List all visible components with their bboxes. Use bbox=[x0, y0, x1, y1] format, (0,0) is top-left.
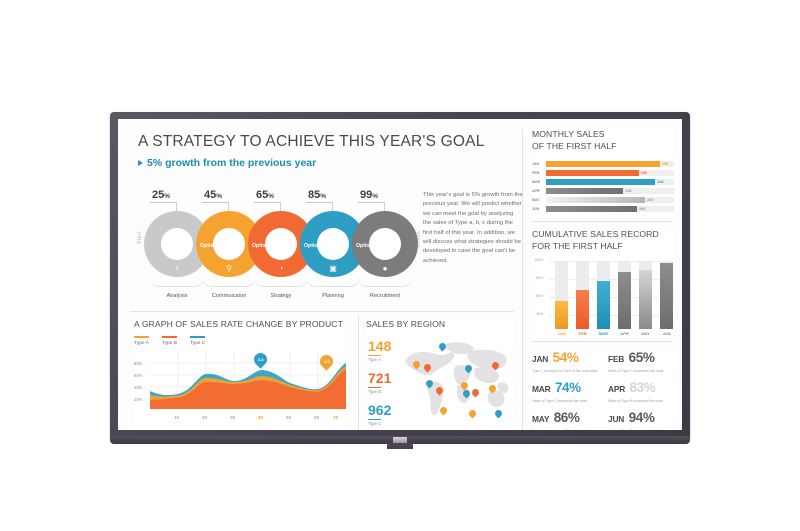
stat-desc-mar: Sales of Type C increased the most bbox=[532, 399, 598, 404]
step-pct-2: 45% bbox=[204, 189, 222, 201]
cum-fill-jun[interactable] bbox=[660, 263, 673, 329]
monthly-bars: JAN 356 FEB 290 MAR bbox=[532, 161, 674, 212]
cum-xtick-may: MAY bbox=[639, 331, 652, 336]
subtitle-row: 5% growth from the previous year bbox=[138, 157, 316, 169]
region-underline-type-a bbox=[368, 355, 381, 357]
stat-month-jun: JUN bbox=[608, 414, 624, 424]
monthly-value-may: 310 bbox=[647, 198, 653, 202]
legend-label-type-c: Type C bbox=[190, 341, 205, 346]
cum-ytick-60: 60% bbox=[536, 294, 543, 298]
step-pct-5: 99% bbox=[360, 189, 378, 201]
region-label-type-c: Type C bbox=[368, 421, 391, 426]
monthly-value-jun: 284 bbox=[639, 207, 645, 211]
step-label-5: Recruitment bbox=[358, 293, 412, 299]
legend-swatch-type-c bbox=[190, 336, 205, 338]
flask-icon: ⚲ bbox=[223, 264, 235, 273]
page-title: A STRATEGY TO ACHIEVE THIS YEAR'S GOAL bbox=[138, 133, 485, 151]
monthly-fill-feb bbox=[546, 170, 639, 176]
monthly-track-feb: 290 bbox=[546, 170, 674, 176]
stat-month-feb: FEB bbox=[608, 354, 624, 364]
region-label-type-b: Type B bbox=[368, 389, 391, 394]
stat-pct-feb: 65% bbox=[629, 350, 655, 365]
monthly-track-mar: 342 bbox=[546, 179, 674, 185]
region-panel: SALES BY REGION 148 Type A 721 Type B 96… bbox=[366, 319, 514, 430]
cum-xtick-mar: MAR bbox=[597, 331, 610, 336]
cum-xtick-jan: JAN bbox=[555, 331, 568, 336]
region-underline-type-c bbox=[368, 419, 381, 421]
region-stat-type-c: 962 Type C bbox=[368, 403, 391, 426]
cumulative-title-line1: CUMULATIVE SALES RECORD bbox=[532, 229, 674, 239]
stat-pct-may: 86% bbox=[554, 410, 580, 425]
region-value-type-b: 721 bbox=[368, 371, 391, 385]
monthly-value-mar: 342 bbox=[657, 180, 663, 184]
monthly-label-jan: JAN bbox=[532, 162, 546, 166]
cum-fill-feb[interactable] bbox=[576, 290, 589, 329]
monthly-title-line2: OF THE FIRST HALF bbox=[532, 141, 674, 151]
legend-item-type-c[interactable]: Type C bbox=[190, 336, 205, 346]
step-arc-2 bbox=[202, 277, 256, 287]
stat-pct-jun: 94% bbox=[629, 410, 655, 425]
monthly-row-apr: APR 242 bbox=[532, 188, 674, 194]
trophy-icon: ♀ bbox=[171, 264, 183, 273]
monitor-stand bbox=[387, 443, 413, 449]
monthly-label-apr: APR bbox=[532, 189, 546, 193]
triangle-bullet-icon bbox=[138, 160, 143, 166]
pct-rule-3 bbox=[254, 202, 280, 203]
monthly-label-jun: JUN bbox=[532, 207, 546, 211]
pct-rule-5 bbox=[358, 202, 384, 203]
legend-swatch-type-a bbox=[134, 336, 149, 338]
edge-label-start: Start bbox=[137, 231, 143, 244]
step-option-2: Option 02 bbox=[252, 243, 276, 249]
world-map bbox=[396, 337, 512, 425]
step-pct-3: 65% bbox=[256, 189, 274, 201]
region-underline-type-b bbox=[368, 387, 381, 389]
stat-month-mar: MAR bbox=[532, 384, 550, 394]
cum-ytick-100: 100% bbox=[534, 258, 543, 262]
monthly-row-may: MAY 310 bbox=[532, 197, 674, 203]
region-value-type-a: 148 bbox=[368, 339, 391, 353]
area-chart-title: A GRAPH OF SALES RATE CHANGE BY PRODUCT bbox=[134, 319, 348, 329]
cum-fill-jan[interactable] bbox=[555, 301, 568, 329]
cumulative-title-line2: FOR THE FIRST HALF bbox=[532, 241, 674, 251]
stat-may: MAY 86% Type B accounts for 86% of the t… bbox=[532, 409, 598, 430]
stat-mar: MAR 74% Sales of Type C increased the mo… bbox=[532, 379, 598, 404]
area-ytick-60: 60% bbox=[134, 373, 142, 378]
area-chart-svg bbox=[150, 351, 346, 413]
legend-swatch-type-b bbox=[162, 336, 177, 338]
monthly-fill-mar bbox=[546, 179, 655, 185]
monthly-label-mar: MAR bbox=[532, 180, 546, 184]
step-pct-value-3: 65 bbox=[256, 189, 268, 201]
step-arc-3 bbox=[254, 277, 308, 287]
monthly-track-jan: 356 bbox=[546, 161, 674, 167]
area-xtick-70: 70 bbox=[333, 415, 338, 420]
stat-desc-jan: Type C accounts for 54% of the total sal… bbox=[532, 369, 598, 374]
monthly-row-jun: JUN 284 bbox=[532, 206, 674, 212]
cum-ytick-80: 80% bbox=[536, 276, 543, 280]
area-xtick-10: 10 bbox=[174, 415, 179, 420]
monthly-value-feb: 290 bbox=[641, 171, 647, 175]
step-pct-value-1: 25 bbox=[152, 189, 164, 201]
monthly-row-feb: FEB 290 bbox=[532, 170, 674, 176]
step-pct-1: 25% bbox=[152, 189, 170, 201]
stat-pct-mar: 74% bbox=[555, 380, 581, 395]
monthly-fill-jan bbox=[546, 161, 660, 167]
legend-item-type-a[interactable]: Type A bbox=[134, 336, 149, 346]
area-ytick-20: 20% bbox=[134, 397, 142, 402]
monthly-track-may: 310 bbox=[546, 197, 674, 203]
stat-month-apr: APR bbox=[608, 384, 625, 394]
pct-rule-1 bbox=[150, 202, 176, 203]
stat-feb: FEB 65% Sales of Type C increased the mo… bbox=[608, 349, 674, 374]
monthly-row-jan: JAN 356 bbox=[532, 161, 674, 167]
donut-hole-1 bbox=[161, 228, 193, 260]
stat-desc-jun: Sales of Type B increased the most bbox=[608, 429, 674, 431]
legend-item-type-b[interactable]: Type B bbox=[162, 336, 177, 346]
region-title: SALES BY REGION bbox=[366, 319, 514, 329]
step-pct-unit-5: % bbox=[372, 193, 378, 200]
cum-fill-apr[interactable] bbox=[618, 272, 631, 329]
monthly-fill-may bbox=[546, 197, 645, 203]
monthly-value-apr: 242 bbox=[625, 189, 631, 193]
monthly-stats-panel: JAN 54% Type C accounts for 54% of the t… bbox=[532, 349, 678, 430]
cumulative-panel: CUMULATIVE SALES RECORD FOR THE FIRST HA… bbox=[532, 229, 674, 337]
cum-fill-may[interactable] bbox=[639, 270, 652, 329]
step-pct-value-5: 99 bbox=[360, 189, 372, 201]
stat-pct-apr: 83% bbox=[630, 380, 656, 395]
process-chain: Start Finish 25% ♀ Analysis bbox=[140, 189, 420, 304]
page-subtitle: 5% growth from the previous year bbox=[147, 157, 316, 169]
cum-xtick-feb: FEB bbox=[576, 331, 589, 336]
area-chart-plot: 80% 60% 40% 20% bbox=[134, 351, 348, 413]
monthly-row-mar: MAR 342 bbox=[532, 179, 674, 185]
monthly-track-jun: 284 bbox=[546, 206, 674, 212]
goal-paragraph: This year's goal is 5% growth from the p… bbox=[423, 191, 523, 266]
area-ytick-40: 40% bbox=[134, 385, 142, 390]
step-option-1: Option 01 bbox=[200, 243, 224, 249]
monthly-label-feb: FEB bbox=[532, 171, 546, 175]
region-label-type-a: Type A bbox=[368, 357, 391, 362]
step-pct-unit-3: % bbox=[268, 193, 274, 200]
stat-jun: JUN 94% Sales of Type B increased the mo… bbox=[608, 409, 674, 430]
bulb-icon: ● bbox=[379, 264, 391, 273]
monthly-track-apr: 242 bbox=[546, 188, 674, 194]
pct-rule-2 bbox=[202, 202, 228, 203]
divider-horizontal-right-2 bbox=[532, 341, 672, 342]
step-arc-4 bbox=[306, 277, 360, 287]
divider-horizontal-right-1 bbox=[532, 221, 672, 222]
area-xtick-60: 60 bbox=[314, 415, 319, 420]
step-label-3: Strategy bbox=[254, 293, 308, 299]
step-option-4: Option 04 bbox=[356, 243, 380, 249]
stat-desc-apr: Sales of Type B increased the most bbox=[608, 399, 674, 404]
step-pct-unit-2: % bbox=[216, 193, 222, 200]
divider-horizontal-left bbox=[130, 311, 514, 312]
divider-vertical-mid bbox=[358, 315, 359, 430]
step-arc-1 bbox=[150, 277, 204, 287]
area-pin-type-c-value: 3.3 bbox=[258, 357, 264, 362]
cumulative-xaxis: JAN FEB MAR APR MAY JUN bbox=[549, 331, 674, 339]
area-chart-legend: Type A Type B Type C bbox=[134, 336, 348, 346]
cum-xtick-apr: APR bbox=[618, 331, 631, 336]
step-pct-unit-1: % bbox=[164, 193, 170, 200]
monthly-title-line1: MONTHLY SALES bbox=[532, 129, 674, 139]
area-xtick-20: 20 bbox=[202, 415, 207, 420]
region-stat-type-a: 148 Type A bbox=[368, 339, 391, 362]
monitor-icon: ▣ bbox=[327, 264, 339, 273]
stat-desc-feb: Sales of Type C increased the most bbox=[608, 369, 674, 374]
stat-apr: APR 83% Sales of Type B increased the mo… bbox=[608, 379, 674, 404]
stat-jan: JAN 54% Type C accounts for 54% of the t… bbox=[532, 349, 598, 374]
step-label-2: Commuicaion bbox=[202, 293, 256, 299]
stat-desc-may: Type B accounts for 86% of the total sal… bbox=[532, 429, 598, 431]
area-ytick-80: 80% bbox=[134, 361, 142, 366]
step-label-1: Analysis bbox=[150, 293, 204, 299]
step-arc-5 bbox=[358, 277, 412, 287]
area-xtick-50: 50 bbox=[286, 415, 291, 420]
monthly-label-may: MAY bbox=[532, 198, 546, 202]
monthly-value-jan: 356 bbox=[662, 162, 668, 166]
stat-month-jan: JAN bbox=[532, 354, 548, 364]
cum-xtick-jun: JUN bbox=[660, 331, 673, 336]
step-pct-value-2: 45 bbox=[204, 189, 216, 201]
area-xtick-40: 40 bbox=[258, 415, 263, 420]
area-xtick-30: 30 bbox=[230, 415, 235, 420]
legend-label-type-b: Type B bbox=[162, 341, 177, 346]
stat-pct-jan: 54% bbox=[553, 350, 579, 365]
display-screen: A STRATEGY TO ACHIEVE THIS YEAR'S GOAL 5… bbox=[118, 119, 682, 430]
step-pct-value-4: 85 bbox=[308, 189, 320, 201]
monthly-sales-panel: MONTHLY SALES OF THE FIRST HALF JAN 356 … bbox=[532, 129, 674, 217]
divider-vertical-right bbox=[522, 129, 523, 430]
pct-rule-4 bbox=[306, 202, 332, 203]
area-chart-xaxis: 10 20 30 40 50 60 70 bbox=[134, 415, 348, 425]
step-pct-unit-4: % bbox=[320, 193, 326, 200]
screenshot-root: A STRATEGY TO ACHIEVE THIS YEAR'S GOAL 5… bbox=[0, 0, 800, 531]
monitor-device: A STRATEGY TO ACHIEVE THIS YEAR'S GOAL 5… bbox=[110, 112, 690, 442]
step-pct-4: 85% bbox=[308, 189, 326, 201]
step-option-3: Option 03 bbox=[304, 243, 328, 249]
region-value-type-c: 962 bbox=[368, 403, 391, 417]
monthly-fill-apr bbox=[546, 188, 623, 194]
area-pin-type-a-value: 4.5 bbox=[324, 359, 330, 364]
monthly-fill-jun bbox=[546, 206, 637, 212]
clock-icon: ◔ bbox=[275, 264, 287, 273]
cum-ytick-40: 40% bbox=[536, 312, 543, 316]
cum-fill-mar[interactable] bbox=[597, 281, 610, 329]
area-chart-panel: A GRAPH OF SALES RATE CHANGE BY PRODUCT … bbox=[134, 319, 348, 430]
cumulative-plot: 100% 80% 60% 40% bbox=[549, 257, 674, 329]
region-stat-type-b: 721 Type B bbox=[368, 371, 391, 394]
step-label-4: Planning bbox=[306, 293, 360, 299]
stat-month-may: MAY bbox=[532, 414, 549, 424]
legend-label-type-a: Type A bbox=[134, 341, 149, 346]
